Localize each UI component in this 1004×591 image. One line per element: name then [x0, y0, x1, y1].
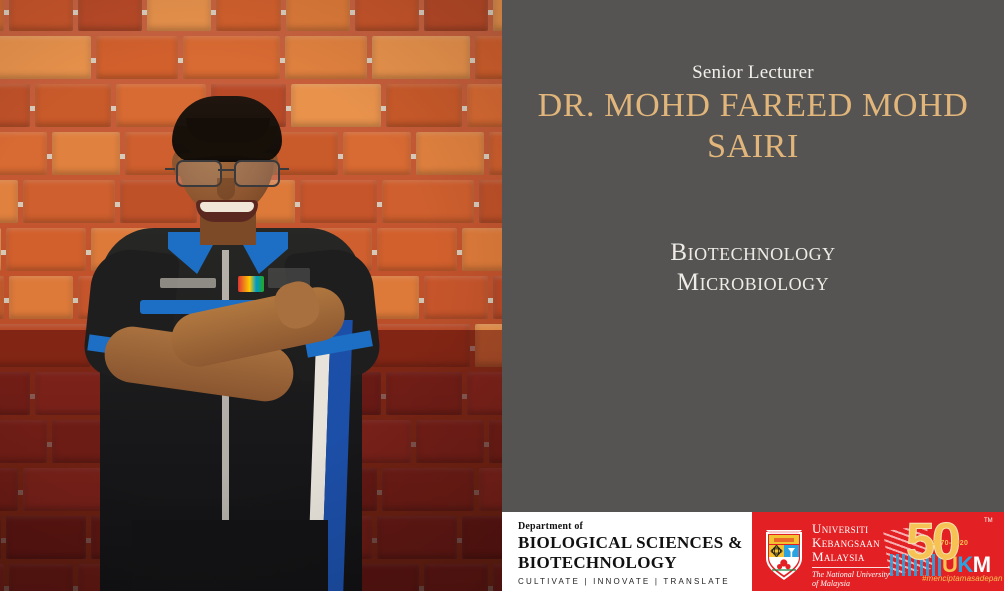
anniversary-years: 1970-2020: [932, 540, 968, 547]
lecturer-photo: [0, 0, 502, 591]
research-fields: Biotechnology Microbiology: [502, 238, 1004, 298]
university-logo-bar: Universiti Kebangsaan Malaysia The Natio…: [752, 512, 1004, 591]
university-subtitle-2: of Malaysia: [812, 579, 889, 588]
job-title: Senior Lecturer: [502, 62, 1004, 84]
department-kicker: Department of: [518, 521, 744, 532]
department-title-line2: BIOTECHNOLOGY: [518, 554, 744, 572]
university-name: Universiti Kebangsaan Malaysia The Natio…: [812, 522, 889, 588]
research-field: Microbiology: [502, 268, 1004, 298]
university-line-3: Malaysia: [812, 550, 889, 564]
university-line-2: Kebangsaan: [812, 536, 889, 550]
lecturer-profile-card: Senior Lecturer DR. MOHD FAREED MOHD SAI…: [0, 0, 1004, 591]
info-panel: Senior Lecturer DR. MOHD FAREED MOHD SAI…: [502, 0, 1004, 591]
research-field: Biotechnology: [502, 238, 1004, 268]
department-title-line1: BIOLOGICAL SCIENCES &: [518, 534, 744, 552]
university-line-1: Universiti: [812, 522, 889, 536]
trademark-mark: TM: [984, 518, 993, 524]
anniversary-logo: 50 TM 1970-2020 UKM #menciptamasadepan: [892, 518, 1000, 586]
anniversary-hashtag: #menciptamasadepan: [922, 574, 1003, 583]
page-title: DR. MOHD FAREED MOHD SAIRI: [516, 85, 990, 167]
department-tagline: CULTIVATE | INNOVATE | TRANSLATE: [518, 577, 744, 586]
university-subtitle-1: The National University: [812, 567, 889, 579]
department-logo-bar: Department of BIOLOGICAL SCIENCES & BIOT…: [502, 512, 752, 591]
ukm-crest-icon: [762, 520, 806, 582]
photo-vignette: [0, 0, 502, 591]
